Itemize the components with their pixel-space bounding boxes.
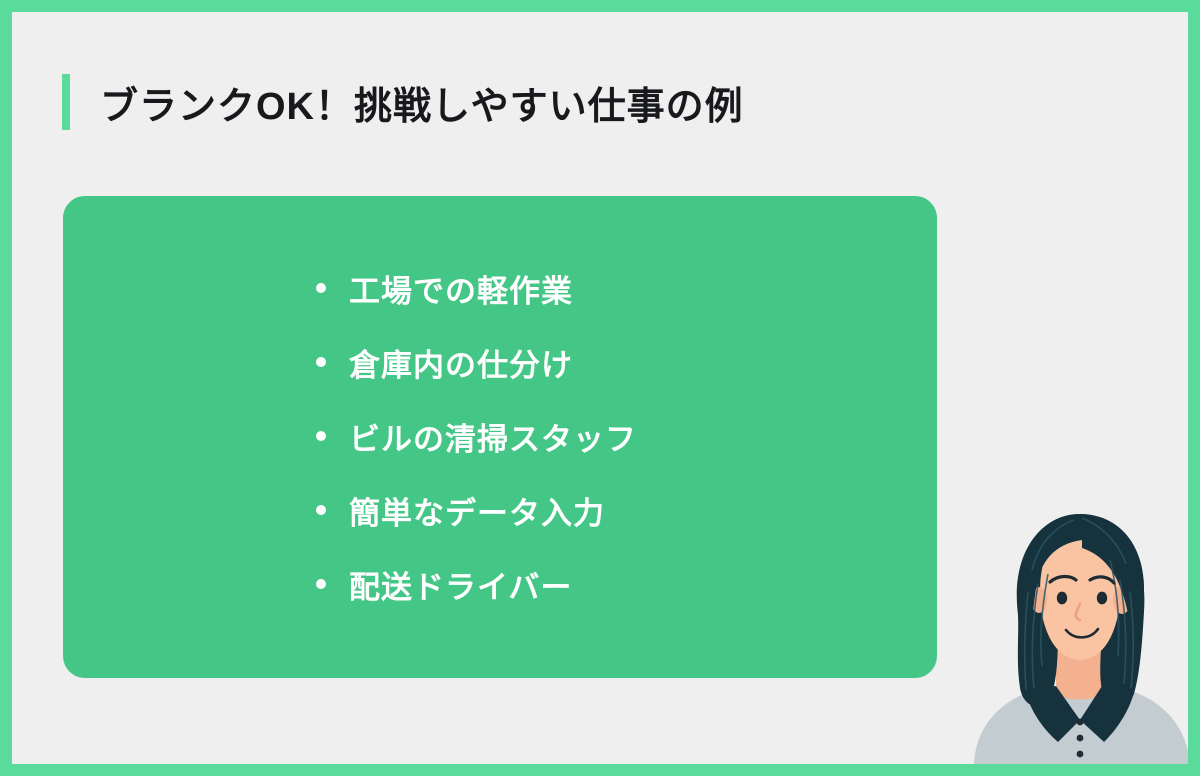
list-item: 工場での軽作業 (316, 251, 637, 325)
bullet-dot-icon (316, 283, 326, 293)
content-card: 工場での軽作業 倉庫内の仕分け ビルの清掃スタッフ 簡単なデータ入力 配送ドライ (63, 196, 937, 678)
job-example-list: 工場での軽作業 倉庫内の仕分け ビルの清掃スタッフ 簡単なデータ入力 配送ドライ (316, 251, 637, 621)
list-item: 倉庫内の仕分け (316, 325, 637, 399)
smiling-woman-illustration (962, 496, 1188, 764)
list-item: ビルの清掃スタッフ (316, 399, 637, 473)
page-title: ブランクOK！挑戦しやすい仕事の例 (100, 75, 744, 130)
list-item-label: 倉庫内の仕分け (349, 340, 573, 385)
bullet-dot-icon (316, 431, 326, 441)
list-item-label: 工場での軽作業 (349, 266, 573, 311)
list-item: 配送ドライバー (316, 547, 637, 621)
bullet-dot-icon (316, 579, 326, 589)
list-item-label: 配送ドライバー (349, 562, 572, 607)
slide-canvas: ブランクOK！挑戦しやすい仕事の例 工場での軽作業 倉庫内の仕分け ビルの清掃ス… (12, 12, 1188, 764)
slide-frame: ブランクOK！挑戦しやすい仕事の例 工場での軽作業 倉庫内の仕分け ビルの清掃ス… (0, 0, 1200, 776)
page-title-row: ブランクOK！挑戦しやすい仕事の例 (62, 74, 744, 130)
bullet-dot-icon (316, 357, 326, 367)
bullet-dot-icon (316, 505, 326, 515)
title-accent-bar (62, 74, 70, 130)
list-item-label: 簡単なデータ入力 (349, 488, 605, 533)
list-item: 簡単なデータ入力 (316, 473, 637, 547)
list-item-label: ビルの清掃スタッフ (349, 414, 637, 459)
